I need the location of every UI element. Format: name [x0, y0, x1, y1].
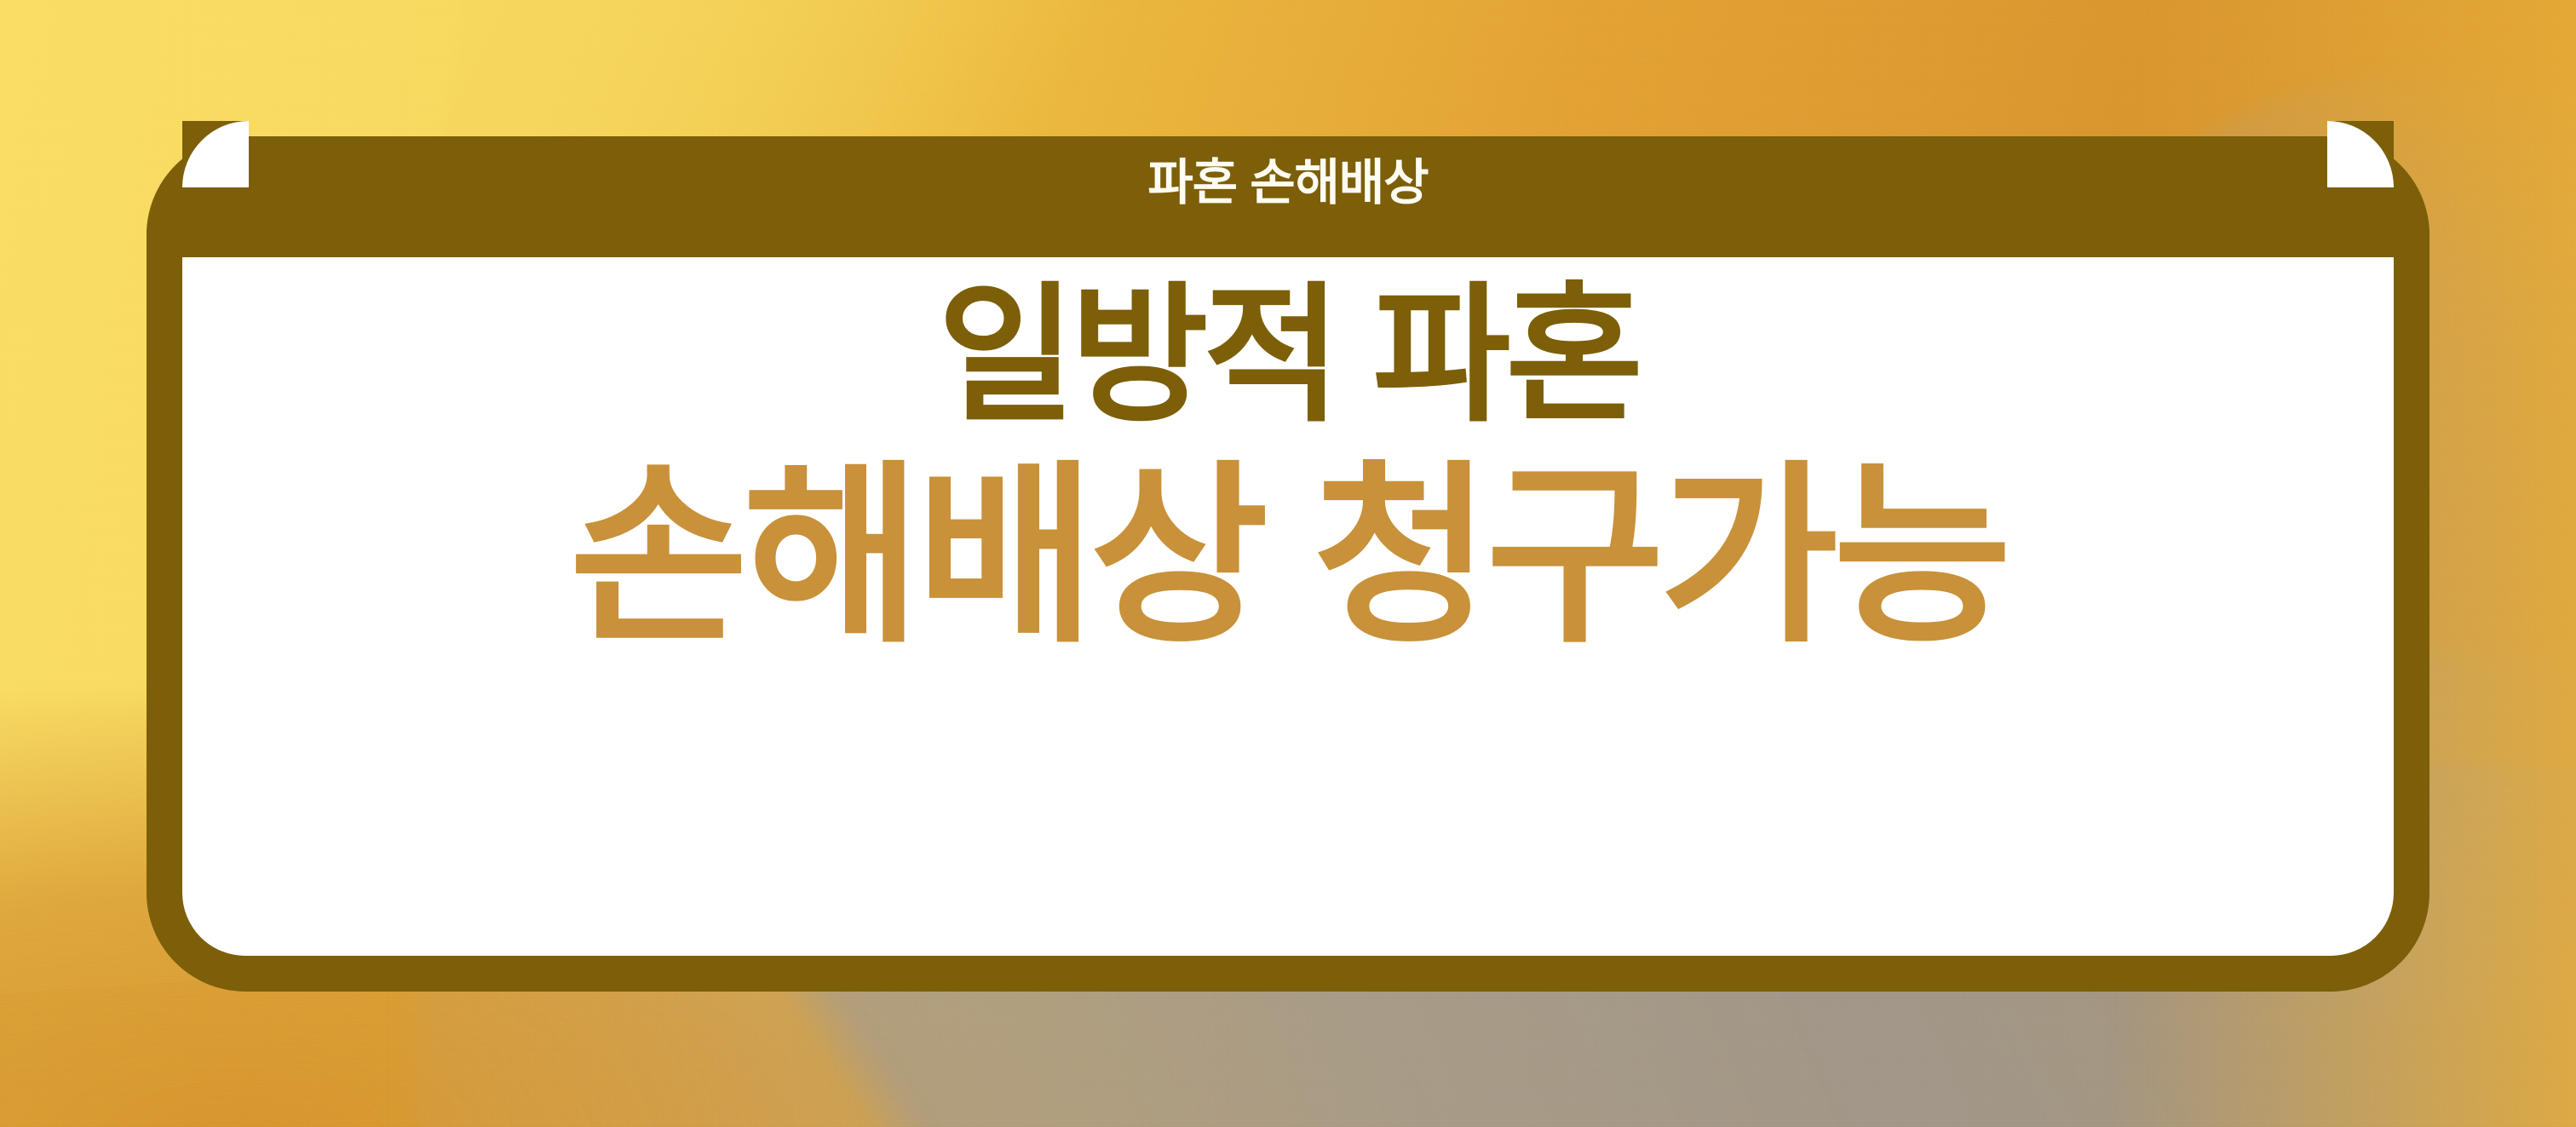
headline-line-2: 손해배상 청구가능 — [182, 460, 2394, 654]
poster-canvas: 파혼 손해배상 일방적 파혼 손해배상 청구가능 — [0, 0, 2576, 1127]
headline-block: 일방적 파혼 손해배상 청구가능 — [182, 281, 2394, 654]
header-tab-label: 파혼 손해배상 — [0, 158, 2576, 208]
headline-line-1: 일방적 파혼 — [182, 281, 2394, 431]
